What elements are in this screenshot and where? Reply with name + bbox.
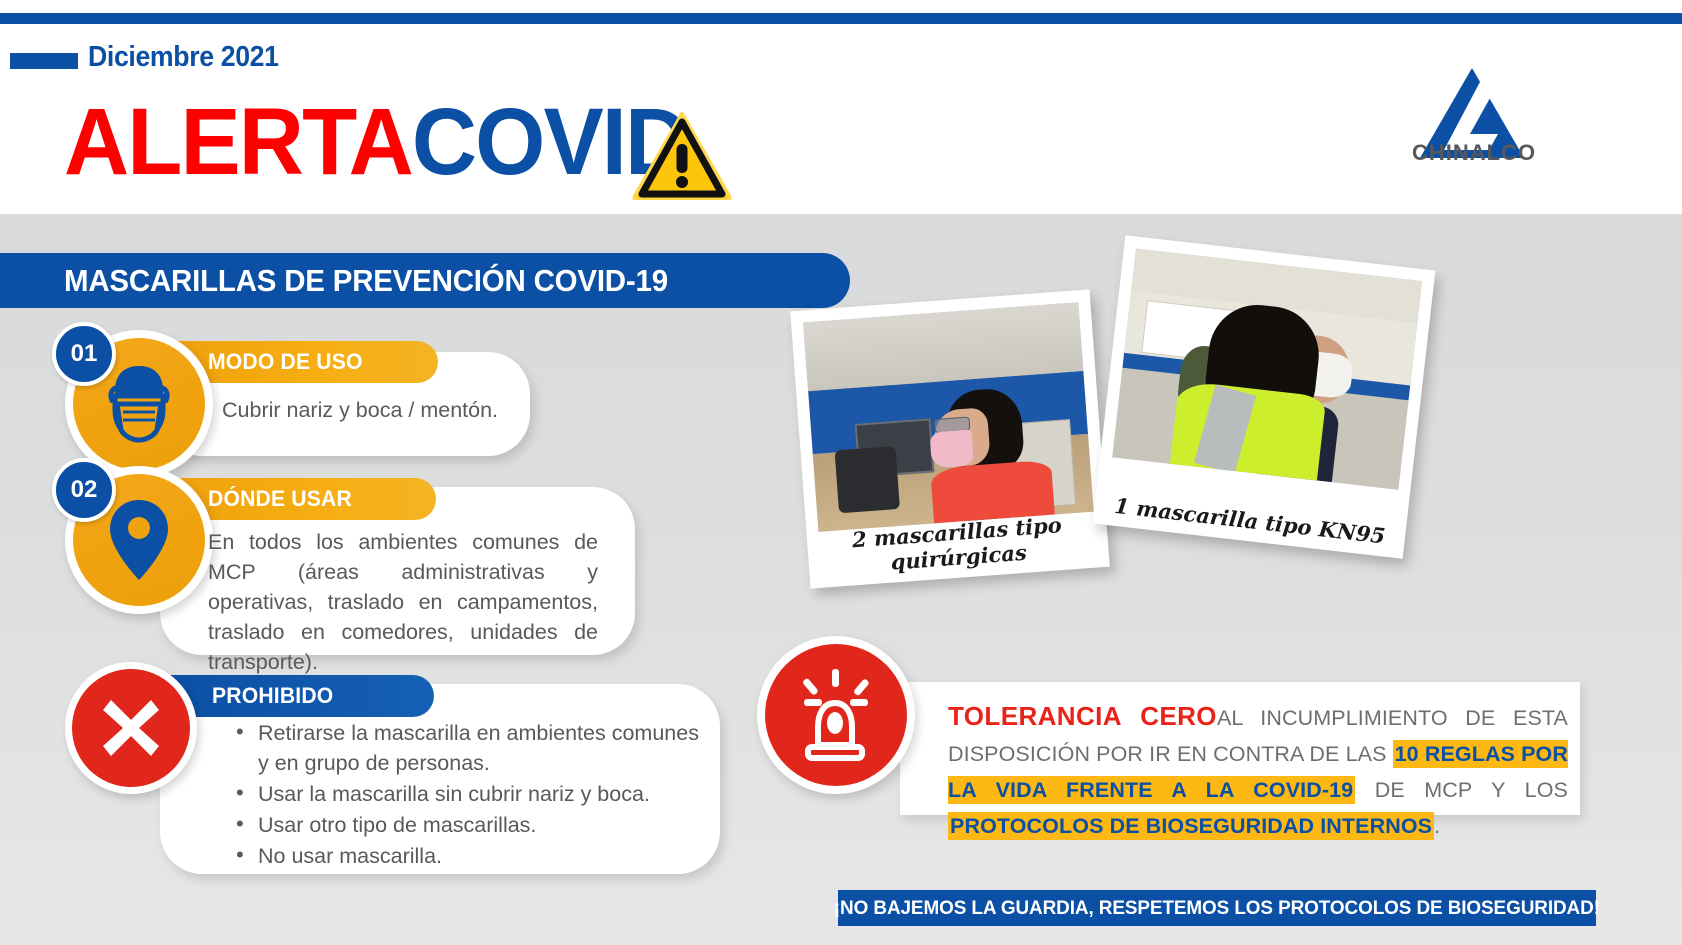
photo-kn95-mask-image [1112,249,1422,490]
label-prohibido-text: PROHIBIDO [212,683,333,709]
label-prohibido: PROHIBIDO [168,675,434,717]
tolerance-headline: TOLERANCIA CERO [948,701,1217,731]
tolerance-body-3: . [1434,814,1440,838]
photo-surgical-masks-image [803,302,1094,532]
text-prohibido: Retirarse la mascarilla en ambientes com… [214,718,704,872]
icon-circle-prohibido [65,662,197,794]
list-item: Retirarse la mascarilla en ambientes com… [236,718,704,778]
tolerance-body-2: DE MCP Y LOS [1355,778,1568,802]
label-modo-de-uso: MODO DE USO [168,341,438,383]
photo-surgical-masks: 2 mascarillas tipo quirúrgicas [790,289,1110,588]
list-item: Usar la mascarilla sin cubrir nariz y bo… [236,779,704,809]
photo-kn95-mask: 1 mascarilla tipo KN95 [1093,235,1436,558]
step-number-02: 02 [52,458,116,522]
date-label: Diciembre 2021 [88,41,279,74]
prohibido-bullet-list: Retirarse la mascarilla en ambientes com… [214,718,704,871]
date-dash-decoration [10,53,78,69]
label-donde-usar-text: DÓNDE USAR [208,486,352,512]
footer-banner-text: ¡NO BAJEMOS LA GUARDIA, RESPETEMOS LOS P… [834,897,1600,920]
step-number-01: 01 [52,322,116,386]
alarm-siren-icon [788,665,884,765]
warning-triangle-icon [632,112,732,200]
page-title: ALERTACOVID [64,95,688,190]
section-banner: MASCARILLAS DE PREVENCIÓN COVID-19 [0,253,850,308]
chinalco-logo-text: CHINALCO [1412,140,1532,166]
poster-root: Diciembre 2021 ALERTACOVID CHINALCO MASC… [0,0,1682,945]
top-blue-rule [0,13,1682,24]
list-item: No usar mascarilla. [236,841,704,871]
label-modo-de-uso-text: MODO DE USO [208,349,363,375]
icon-circle-tolerance [757,636,915,794]
tolerance-highlight-2: PROTOCOLOS DE BIOSEGURIDAD INTERNOS [948,812,1434,840]
text-modo-de-uso: Cubrir nariz y boca / mentón. [222,395,522,425]
footer-banner: ¡NO BAJEMOS LA GUARDIA, RESPETEMOS LOS P… [838,890,1596,926]
x-cross-icon [93,690,169,766]
tolerance-text: TOLERANCIA CEROAL INCUMPLIMIENTO DE ESTA… [948,698,1568,844]
text-donde-usar: En todos los ambientes comunes de MCP (á… [208,527,598,677]
list-item: Usar otro tipo de mascarillas. [236,810,704,840]
section-banner-title: MASCARILLAS DE PREVENCIÓN COVID-19 [64,263,668,299]
page-title-alerta: ALERTA [64,89,412,195]
